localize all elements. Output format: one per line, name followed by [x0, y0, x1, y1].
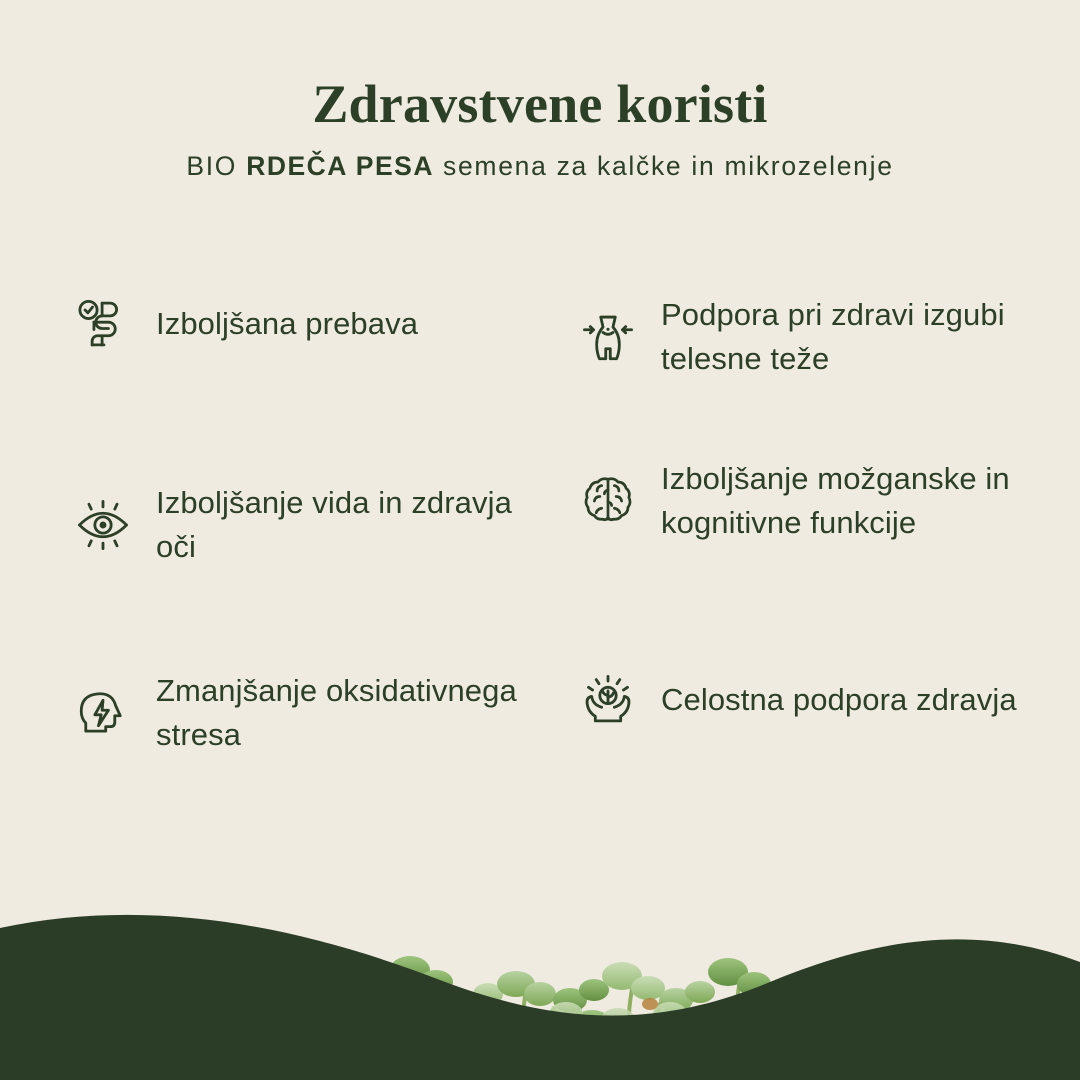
benefit-label: Izboljšana prebava	[156, 302, 418, 346]
brain-icon	[577, 470, 639, 532]
benefits-grid: Izboljšana prebava Podpora pri zdravi iz…	[0, 283, 1080, 853]
head-lightning-icon	[72, 682, 134, 744]
slim-body-arrows-icon	[577, 306, 639, 368]
benefit-item-digestion: Izboljšana prebava	[72, 293, 577, 355]
page-title: Zdravstvene koristi	[0, 76, 1080, 133]
benefit-label: Zmanjšanje oksidativnega stresa	[156, 669, 556, 757]
microgreens-artwork	[0, 780, 1080, 1080]
poster: Zdravstvene koristi BIO RDEČA PESA semen…	[0, 0, 1080, 1080]
subtitle: BIO RDEČA PESA semena za kalčke in mikro…	[0, 151, 1080, 183]
benefit-label: Celostna podpora zdravja	[661, 678, 1017, 722]
benefit-label: Izboljšanje možganske in kognitivne funk…	[661, 457, 1061, 545]
eye-icon	[72, 494, 134, 556]
benefit-item-holistic-health: Celostna podpora zdravja	[577, 669, 1077, 731]
benefit-label: Izboljšanje vida in zdravja oči	[156, 481, 556, 569]
benefit-item-oxidative-stress: Zmanjšanje oksidativnega stresa	[72, 669, 577, 757]
benefit-item-vision: Izboljšanje vida in zdravja oči	[72, 481, 577, 569]
dark-green-wave	[0, 850, 1080, 1080]
subtitle-product-name: RDEČA PESA	[246, 151, 434, 181]
intestines-check-icon	[72, 293, 134, 355]
subtitle-suffix: semena za kalčke in mikrozelenje	[434, 151, 894, 181]
subtitle-prefix: BIO	[186, 151, 246, 181]
benefit-item-brain: Izboljšanje možganske in kognitivne funk…	[577, 457, 1077, 545]
benefit-item-weight-loss: Podpora pri zdravi izgubi telesne teže	[577, 293, 1077, 381]
benefit-label: Podpora pri zdravi izgubi telesne teže	[661, 293, 1061, 381]
hands-holding-sprout-icon	[577, 669, 639, 731]
header: Zdravstvene koristi BIO RDEČA PESA semen…	[0, 0, 1080, 182]
